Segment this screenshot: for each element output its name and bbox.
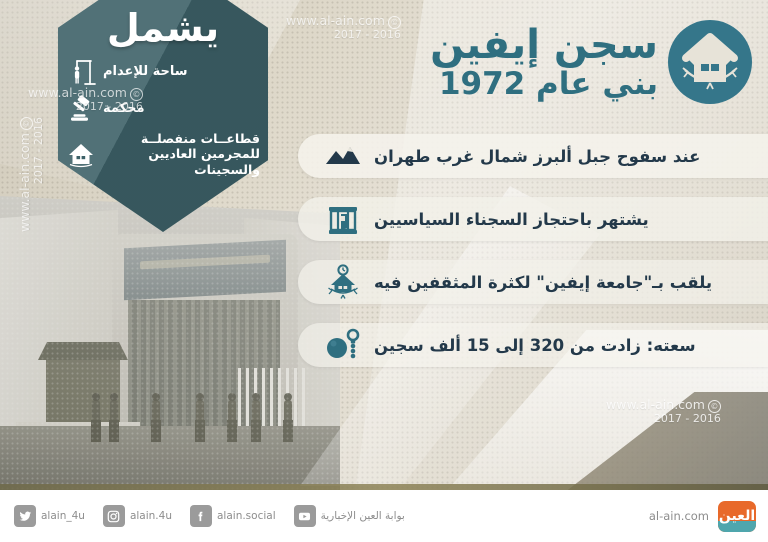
social-link-instagram[interactable]: alain.4u	[103, 505, 172, 527]
infographic-poster: يشمل ساحة للإعدام	[0, 0, 768, 542]
ball-and-chain-icon	[324, 326, 362, 364]
page-title: سجن إيفين	[430, 25, 658, 65]
social-links: alain_4u alain.4u alain.social	[14, 505, 419, 527]
includes-item-label: ساحة للإعدام	[103, 64, 188, 80]
facebook-icon	[190, 505, 212, 527]
al-ain-logo[interactable]: العين	[718, 501, 756, 532]
prison-window-icon	[324, 200, 362, 238]
social-handle: alain_4u	[41, 510, 85, 522]
includes-list-item-court: محكمة	[66, 94, 260, 124]
social-handle: بوابة العين الإخبارية	[321, 510, 405, 522]
facts-list: عند سفوح جبل ألبرز شمال غرب طهران يشتهر …	[298, 134, 768, 386]
includes-list-item-execution-yard: ساحة للإعدام	[66, 57, 260, 87]
page-subtitle: بني عام 1972	[430, 69, 658, 100]
house-icon	[66, 139, 96, 169]
fact-text: عند سفوح جبل ألبرز شمال غرب طهران	[374, 147, 700, 166]
twitter-icon	[14, 505, 36, 527]
instagram-icon	[103, 505, 125, 527]
social-link-facebook[interactable]: alain.social	[190, 505, 276, 527]
university-clock-icon	[324, 263, 362, 301]
social-link-twitter[interactable]: alain_4u	[14, 505, 85, 527]
mountain-icon	[324, 137, 362, 175]
includes-list-item-separate-sections: قطاعــات منفصلــة للمجرمين العاديين والس…	[66, 131, 260, 177]
site-url[interactable]: al-ain.com	[649, 509, 709, 523]
poster-title-block: سجن إيفين بني عام 1972	[392, 8, 752, 116]
youtube-icon	[294, 505, 316, 527]
title-text-group: سجن إيفين بني عام 1972	[430, 25, 658, 100]
fact-row-university-nickname: يلقب بـ"جامعة إيفين" لكثرة المثقفين فيه	[298, 260, 768, 304]
social-link-youtube[interactable]: بوابة العين الإخبارية	[294, 505, 405, 527]
fact-row-capacity: سعته: زادت من 320 إلى 15 ألف سجين	[298, 323, 768, 367]
fact-text: سعته: زادت من 320 إلى 15 ألف سجين	[374, 336, 696, 355]
fact-row-location: عند سفوح جبل ألبرز شمال غرب طهران	[298, 134, 768, 178]
social-handle: alain.social	[217, 510, 276, 522]
fact-text: يشتهر باحتجاز السجناء السياسيين	[374, 210, 649, 229]
prison-gate-photo	[0, 196, 340, 492]
footer-brand: al-ain.com العين	[649, 501, 756, 532]
footer-top-edge	[0, 484, 768, 490]
house-barbed-wire-icon	[668, 20, 752, 104]
gallows-icon	[66, 57, 96, 87]
fact-text: يلقب بـ"جامعة إيفين" لكثرة المثقفين فيه	[374, 273, 712, 292]
includes-item-label: محكمة	[103, 101, 145, 117]
includes-heading: يشمل	[58, 6, 268, 50]
includes-item-label: قطاعــات منفصلــة للمجرمين العاديين والس…	[103, 131, 260, 177]
gavel-icon	[66, 94, 96, 124]
footer-bar: alain_4u alain.4u alain.social	[0, 490, 768, 542]
fact-row-political-prisoners: يشتهر باحتجاز السجناء السياسيين	[298, 197, 768, 241]
includes-list: ساحة للإعدام	[58, 57, 268, 177]
logo-arabic-text: العين	[718, 501, 756, 532]
social-handle: alain.4u	[130, 510, 172, 522]
includes-panel-content: يشمل ساحة للإعدام	[58, 0, 268, 232]
